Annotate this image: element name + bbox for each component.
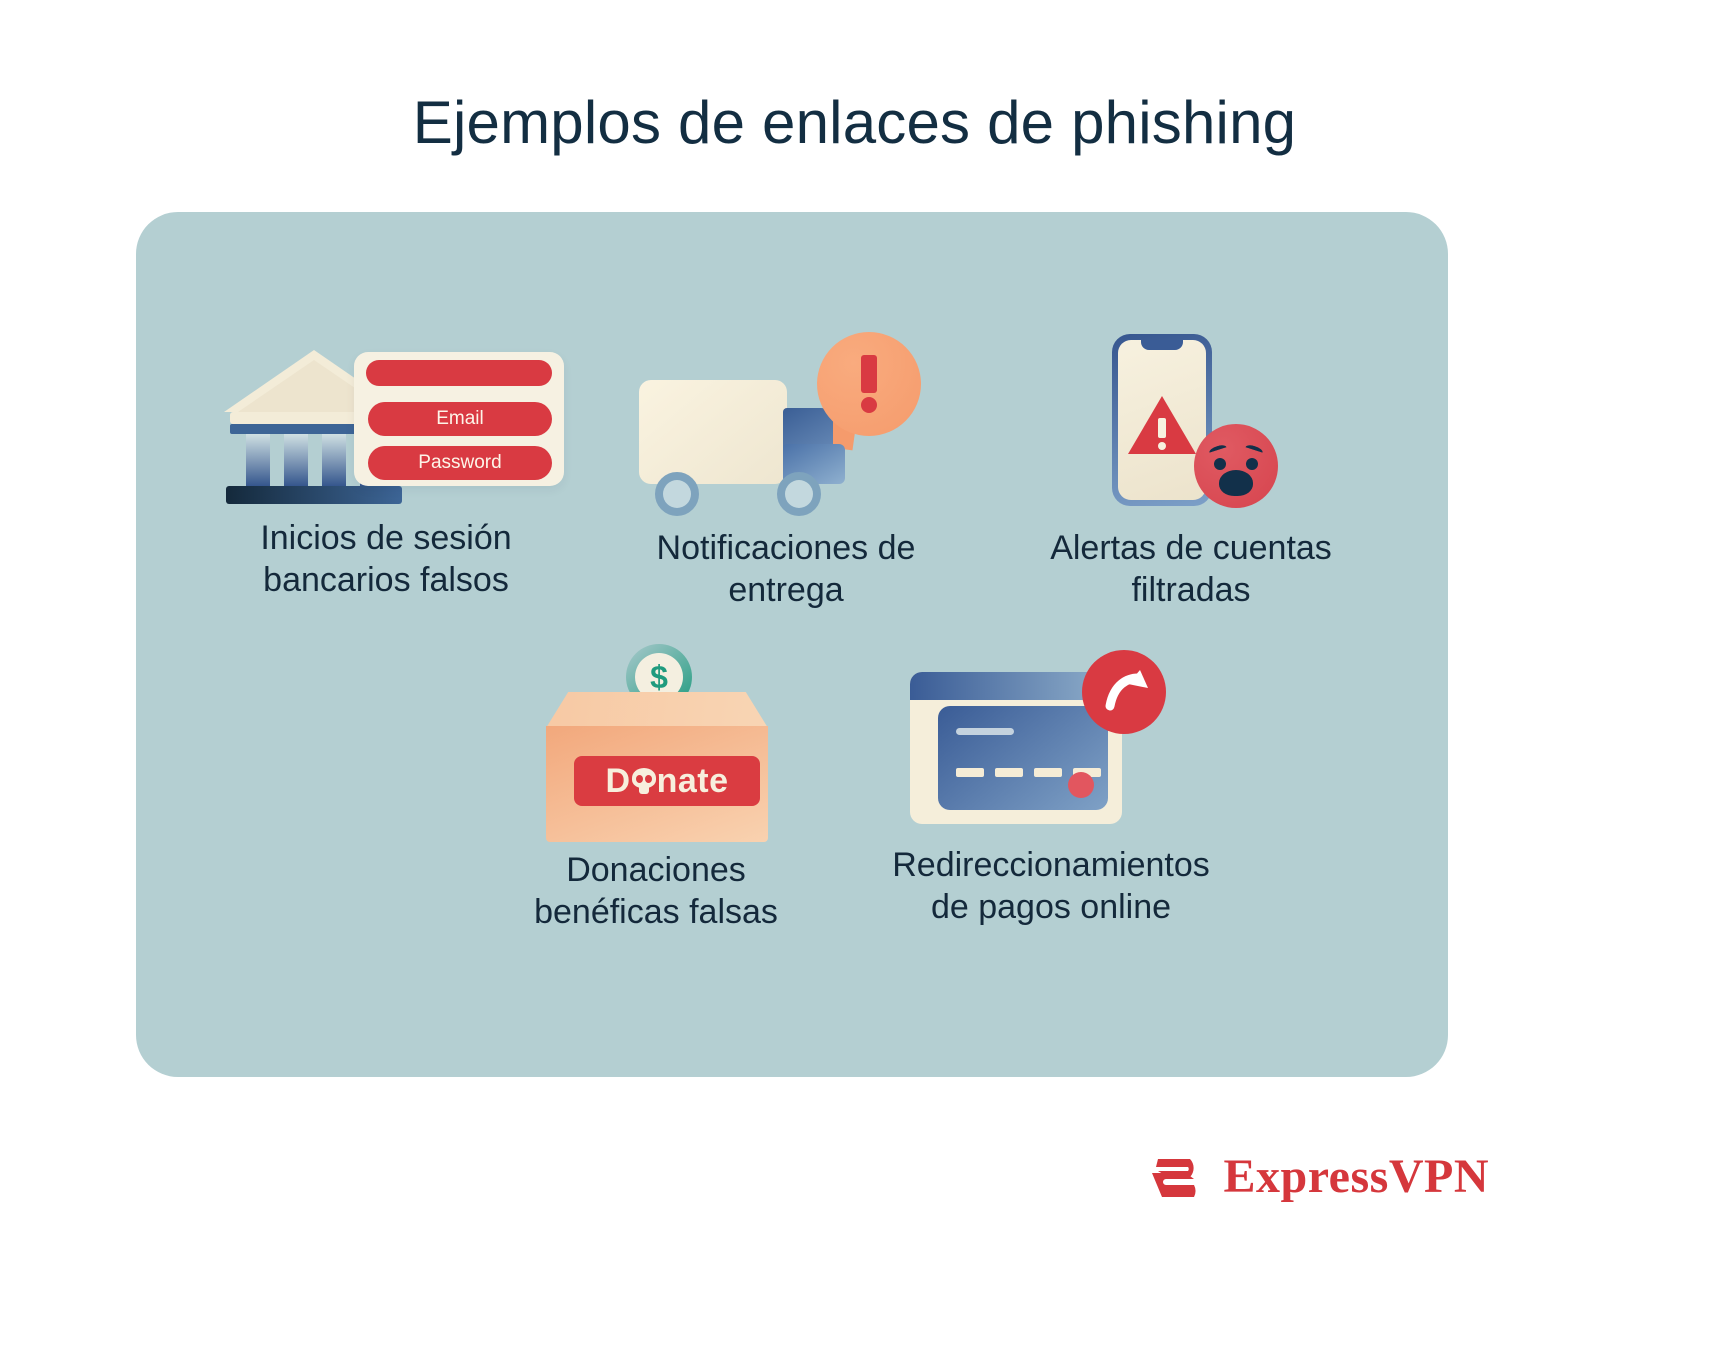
alert-speech-bubble xyxy=(817,332,921,436)
password-field[interactable]: Password xyxy=(368,446,552,480)
item-caption: Inicios de sesión bancarios falsos xyxy=(260,518,511,602)
item-online-payment-redirects: Redireccionamientos de pagos online xyxy=(826,644,1276,929)
donation-box-skull-icon: $ D nate xyxy=(506,644,806,844)
credit-card-icon xyxy=(938,706,1108,810)
page-title: Ejemplos de enlaces de phishing xyxy=(0,88,1709,157)
item-leaked-account-alerts: Alertas de cuentas filtradas xyxy=(981,332,1401,612)
item-caption: Notificaciones de entrega xyxy=(657,528,916,612)
item-delivery-notifications: Notificaciones de entrega xyxy=(586,332,986,612)
content-panel: Email Password Inicios de sesión bancari… xyxy=(136,212,1448,1077)
truck-body xyxy=(639,380,787,484)
donation-box-top xyxy=(546,692,768,728)
warning-triangle-icon xyxy=(1128,396,1196,454)
phone-screen xyxy=(1118,340,1206,500)
truck-wheel xyxy=(655,472,699,516)
item-fake-bank-logins: Email Password Inicios de sesión bancari… xyxy=(176,332,596,602)
browser-card-redirect-icon xyxy=(886,644,1216,839)
infographic-page: Ejemplos de enlaces de phishing xyxy=(0,0,1709,1355)
expressvpn-logo-icon xyxy=(1144,1147,1208,1205)
donate-button[interactable]: D nate xyxy=(574,756,760,806)
redirect-arrow-icon xyxy=(1082,650,1166,734)
skull-icon xyxy=(632,768,656,794)
donate-label-prefix: D xyxy=(606,762,631,801)
exclamation-icon xyxy=(861,355,877,413)
bank-login-icon: Email Password xyxy=(206,332,566,512)
delivery-truck-alert-icon xyxy=(621,332,951,522)
truck-wheel xyxy=(777,472,821,516)
donate-label-suffix: nate xyxy=(657,762,729,801)
card-header-bar xyxy=(366,360,552,386)
logo-text: ExpressVPN xyxy=(1224,1149,1489,1204)
sad-face-icon xyxy=(1194,424,1278,508)
item-caption: Alertas de cuentas filtradas xyxy=(1050,528,1332,612)
email-field[interactable]: Email xyxy=(368,402,552,436)
item-caption: Redireccionamientos de pagos online xyxy=(892,845,1210,929)
expressvpn-logo: ExpressVPN xyxy=(1144,1147,1489,1205)
item-fake-charity-donations: $ D nate Donaciones benéficas falsas xyxy=(446,644,866,934)
item-caption: Donaciones benéficas falsas xyxy=(534,850,778,934)
phone-notch xyxy=(1141,340,1183,350)
phone-warning-sad-face-icon xyxy=(1026,332,1356,522)
login-card: Email Password xyxy=(354,352,564,486)
